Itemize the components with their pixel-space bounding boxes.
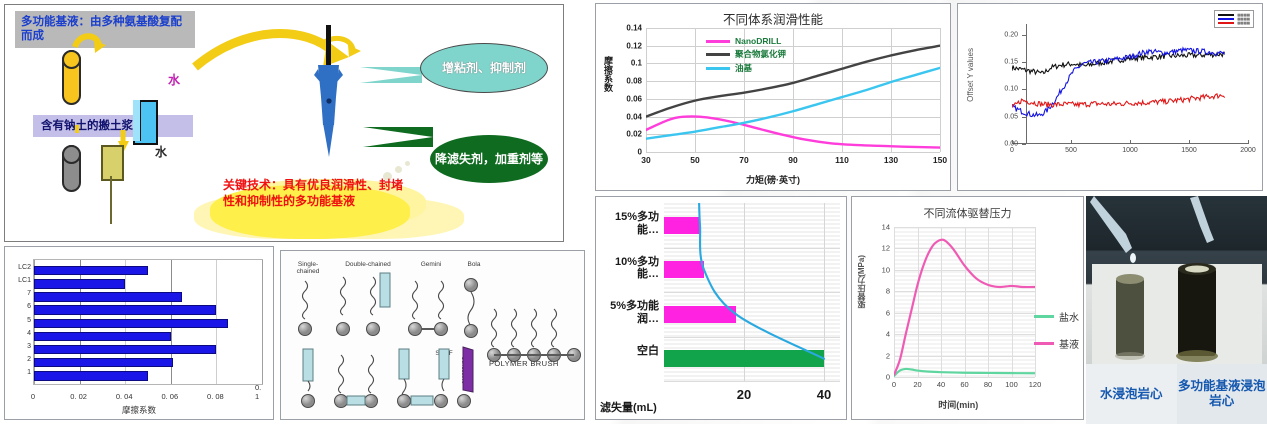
filtration-loss-chart-panel: 204015%多功能…10%多功能…5%多功能润…空白 滤失量(mL) (595, 196, 847, 420)
photo-caption-water-soaked-text: 水浸泡岩心 (1100, 387, 1163, 402)
legend-item: 聚合物氯化钾 (706, 48, 786, 60)
bar-segment (34, 279, 125, 288)
xaxis-tick-label: 500 (1065, 147, 1077, 154)
ygridline (894, 377, 1035, 378)
xaxis-tick-label: 0. 08 (207, 392, 224, 401)
bar-segment (34, 292, 182, 301)
category-label: 5%多功能润… (597, 300, 659, 325)
legend-color-swatch (1218, 14, 1234, 16)
xaxis-tick-label: 50 (690, 155, 699, 165)
legend-item: ▩▩▩▩ (1218, 21, 1250, 25)
table-row: 2 (34, 357, 262, 370)
displacement-pressure-chart-panel: 不同流体驱替压力 02468101214020406080100120 驱替压力… (851, 196, 1084, 420)
xaxis-tick-label: 20 (737, 387, 751, 402)
bar-segment (34, 266, 148, 275)
category-label: 4 (27, 330, 31, 337)
yaxis-tick-label: 10 (882, 265, 890, 274)
xaxis-tick-label: 0 (31, 392, 35, 401)
data-series-line (646, 68, 940, 139)
legend-color-swatch (706, 53, 730, 56)
xgridline (940, 28, 941, 152)
category-label: 15%多功能… (597, 211, 659, 236)
xaxis-tick-label: 60 (960, 380, 968, 389)
yaxis-tick-label: 12 (882, 244, 890, 253)
data-series-line (1012, 94, 1224, 107)
yaxis-tick-label: 0.04 (626, 112, 642, 121)
xaxis-tick-label: 1000 (1122, 147, 1138, 154)
category-label: 6 (27, 303, 31, 310)
xaxis-tick-label: 1500 (1181, 147, 1197, 154)
table-row: 7 (34, 291, 262, 304)
bar-segment (34, 345, 216, 354)
legend-label: NanoDRILL (735, 36, 781, 46)
yaxis-tick-label: 0.1 (631, 59, 642, 68)
friction-chart-xaxis-title: 摩擦系数 (122, 404, 156, 416)
xaxis-tick-label: 120 (1029, 380, 1042, 389)
legend-color-swatch (706, 40, 730, 43)
category-label: 5 (27, 317, 31, 324)
yellow-plate-stem-icon (110, 176, 112, 224)
friction-coefficient-chart-panel: LC2LC17654321 摩擦系数 00. 020. 040. 060. 08… (4, 246, 274, 420)
hgridline (664, 381, 840, 382)
lubrication-yaxis-title: 摩擦系数 (602, 56, 615, 92)
cloud-dot-icon-3 (405, 161, 410, 166)
xaxis-tick-label: 0. 02 (70, 392, 87, 401)
legend-item: NanoDRILL (706, 36, 786, 46)
bar-segment (34, 371, 148, 380)
callout-fluid-loss-weighting: 降滤失剂，加重剂等 (430, 135, 548, 183)
legend-item: 盐水 (1034, 309, 1079, 324)
table-row: 4 (34, 331, 262, 344)
bar-segment (34, 358, 173, 367)
bar-segment (34, 332, 171, 341)
xaxis-tick-label: 130 (884, 155, 898, 165)
legend-label: 聚合物氯化钾 (735, 48, 786, 60)
lubrication-performance-chart-panel: 不同体系润滑性能 00.020.040.060.080.10.120.14305… (595, 3, 951, 191)
lubrication-chart-title: 不同体系润滑性能 (596, 9, 950, 28)
xaxis-tick-label: 20 (913, 380, 921, 389)
displacement-plot-area: 02468101214020406080100120 (894, 227, 1035, 377)
legend-label: 基液 (1059, 336, 1079, 351)
offset-y-axis-title: Offset Y values (966, 48, 975, 102)
table-row: 5 (34, 318, 262, 331)
xaxis-tick-label: 110 (835, 155, 849, 165)
core-sample-photo (1086, 196, 1267, 364)
category-label: LC2 (18, 264, 31, 271)
key-technology-text: 关键技术：具有优良润滑性、封堵性和抑制性的多功能基液 (223, 178, 403, 209)
photo-caption-basefluid-soaked-text: 多功能基液浸泡岩心 (1177, 379, 1267, 409)
legend-color-swatch (1218, 22, 1234, 24)
xaxis-tick-label: 2000 (1240, 147, 1256, 154)
yaxis-tick-label: 2 (886, 351, 890, 360)
series-lines (1012, 24, 1248, 144)
cloud-dot-icon-2 (395, 166, 402, 173)
yaxis-tick-label: 0.14 (626, 24, 642, 33)
legend-label: 油基 (735, 62, 752, 74)
xaxis-tick-label: 80 (984, 380, 992, 389)
ytick-mark (1022, 144, 1026, 145)
offset-y-legend: ▩▩▩▩▩▩▩▩▩▩▩▩ (1214, 10, 1254, 28)
table-row: 6 (34, 304, 262, 317)
yaxis-tick-label: 6 (886, 308, 890, 317)
ygridline (646, 152, 940, 153)
photo-contents (1086, 196, 1267, 364)
offset-y-plot-area: 0.000.050.100.150.200500100015002000 (1012, 24, 1248, 144)
table-row: LC2 (34, 265, 262, 278)
yaxis-tick-label: 4 (886, 330, 890, 339)
xaxis-tick-label: 40 (937, 380, 945, 389)
legend-color-swatch (1034, 315, 1054, 318)
legend-item: 油基 (706, 62, 786, 74)
xaxis-tick-label: 0. 04 (116, 392, 133, 401)
series-lines (646, 28, 940, 152)
category-label: 1 (27, 369, 31, 376)
filtration-xaxis-title: 滤失量(mL) (600, 399, 657, 415)
category-label: 空白 (597, 345, 659, 357)
callout-teal-tail-icon (360, 67, 422, 83)
table-row: 3 (34, 344, 262, 357)
xaxis-tick-label: 70 (739, 155, 748, 165)
displacement-yaxis-title: 驱替压力(MPa) (856, 255, 867, 309)
yaxis-tick-label: 0.08 (626, 77, 642, 86)
callout-viscosifier-inhibitor: 增粘剂、抑制剂 (420, 43, 548, 93)
filtration-plot-area: 204015%多功能…10%多功能…5%多功能润…空白 (664, 203, 840, 381)
xaxis-tick-label: 40 (817, 387, 831, 402)
bar-segment (34, 305, 216, 314)
displacement-xaxis-title: 时间(min) (938, 398, 978, 411)
legend-color-swatch (1218, 18, 1234, 20)
category-label: 3 (27, 343, 31, 350)
xaxis-tick-label: 0. 1 (255, 383, 267, 401)
callout-green-tail-icon (363, 127, 433, 147)
yaxis-tick-label: 0 (886, 373, 890, 382)
xaxis-tick-label: 0 (1010, 147, 1014, 154)
surfactant-architecture-diagram: Single-chained Double-chained Gemini Bol… (280, 250, 585, 420)
blue-additive-cube-icon (133, 100, 158, 145)
yaxis-tick-label: 0.12 (626, 41, 642, 50)
base-fluid-schematic-panel: 多功能基液：由多种氨基酸复配而成 含有钠土的搬土浆 水 水 增粘剂、抑制剂 降滤… (4, 4, 564, 242)
data-series-line (1012, 52, 1224, 74)
legend-color-swatch (706, 67, 730, 70)
category-label: 7 (27, 290, 31, 297)
photo-caption-basefluid-soaked: 多功能基液浸泡岩心 (1177, 364, 1267, 424)
data-series-line (699, 203, 824, 359)
xaxis-tick-label: 90 (788, 155, 797, 165)
xgridline (262, 260, 263, 384)
yaxis-tick-label: 14 (882, 223, 890, 232)
lubrication-legend: NanoDRILL聚合物氯化钾油基 (706, 36, 786, 76)
xtick-mark (1248, 140, 1249, 144)
data-series-line (894, 369, 1035, 376)
xaxis-tick-label: 0 (892, 380, 896, 389)
series-lines (894, 227, 1035, 377)
displacement-legend: 盐水基液 (1034, 309, 1079, 363)
xaxis-tick-label: 150 (933, 155, 947, 165)
series-lines (664, 203, 840, 381)
friction-coefficient-plot-area: LC2LC17654321 (33, 259, 263, 385)
xaxis-tick-label: 30 (641, 155, 650, 165)
xaxis-tick-label: 0. 06 (161, 392, 178, 401)
offset-y-values-chart-panel: 0.000.050.100.150.200500100015002000 Off… (957, 3, 1263, 191)
legend-label: 盐水 (1059, 309, 1079, 324)
photo-caption-water-soaked: 水浸泡岩心 (1086, 364, 1177, 424)
surfactant-molecule-shapes (281, 251, 586, 421)
category-label: 2 (27, 356, 31, 363)
legend-color-swatch (1034, 342, 1054, 345)
yaxis-tick-label: 0.02 (626, 130, 642, 139)
legend-label: ▩▩▩▩ (1237, 21, 1250, 25)
data-series-line (894, 240, 1035, 375)
yaxis-tick-label: 8 (886, 287, 890, 296)
core-soaking-photo-panel: 水浸泡岩心 多功能基液浸泡岩心 (1086, 196, 1267, 424)
category-label: 10%多功能… (597, 256, 659, 281)
legend-item: 基液 (1034, 336, 1079, 351)
lubrication-xaxis-title: 力矩(磅·英寸) (746, 173, 800, 186)
xaxis-tick-label: 100 (1005, 380, 1018, 389)
category-label: LC1 (18, 277, 31, 284)
yellow-plate-icon (101, 145, 124, 181)
yaxis-tick-label: 0.06 (626, 94, 642, 103)
displacement-chart-title: 不同流体驱替压力 (852, 205, 1083, 221)
table-row: 1 (34, 370, 262, 383)
bar-segment (34, 319, 228, 328)
lubrication-plot-area: 00.020.040.060.080.10.120.14305070901101… (646, 28, 940, 152)
table-row: LC1 (34, 278, 262, 291)
